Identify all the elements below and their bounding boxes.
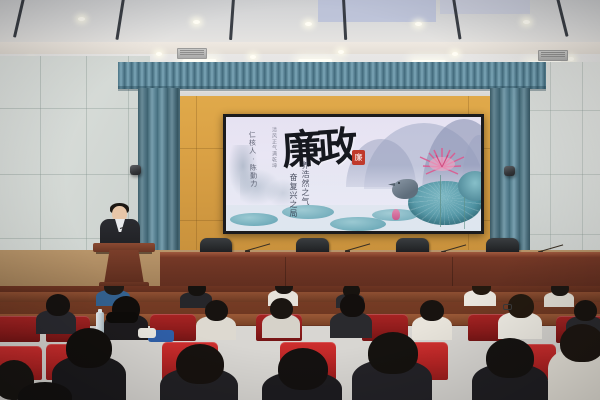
ceiling-blue-panel xyxy=(318,0,436,22)
screen-couplet-right: 养浩然之气 xyxy=(300,161,311,206)
wall-speaker-right xyxy=(504,166,515,176)
led-screen-content: 廉政 廉 养浩然之气 奋复兴之局 仁核人 · 陈勤力 清风正气满乾坤 xyxy=(226,117,481,231)
audience-head xyxy=(368,332,418,374)
audience-head xyxy=(270,298,293,319)
downlight-icon xyxy=(338,50,344,54)
audience-head xyxy=(66,328,112,368)
downlight-icon xyxy=(193,20,200,24)
audience-head xyxy=(486,338,534,378)
downlight-icon xyxy=(250,55,256,59)
air-vent-icon xyxy=(538,50,568,61)
wall-speaker-left xyxy=(130,165,141,175)
lotus-flower-svg xyxy=(414,145,470,179)
eyeglasses-icon xyxy=(503,304,512,310)
lotus-stem xyxy=(440,175,441,227)
audience-seat xyxy=(0,316,40,342)
downlight-icon xyxy=(415,22,422,26)
audience-head xyxy=(278,348,328,390)
audience-head xyxy=(420,300,444,321)
screen-headline: 廉政 xyxy=(281,127,356,172)
downlight-icon xyxy=(523,20,530,24)
audience-head xyxy=(205,300,228,321)
lectern-body xyxy=(104,250,144,284)
air-vent-icon xyxy=(177,48,207,59)
downlight-icon xyxy=(156,52,162,56)
audience-head xyxy=(574,300,597,321)
lotus-stem xyxy=(464,197,465,229)
bird-shape xyxy=(392,179,418,199)
curtain-valance xyxy=(118,62,546,89)
auditorium-photo: 廉政 廉 养浩然之气 奋复兴之局 仁核人 · 陈勤力 清风正气满乾坤 xyxy=(0,0,600,400)
bird-eye xyxy=(398,182,400,184)
white-cloth xyxy=(138,328,156,338)
screen-side-column: 仁核人 · 陈勤力 xyxy=(247,131,259,188)
audience-head xyxy=(560,324,600,362)
seal-text: 廉 xyxy=(355,152,363,163)
lotus-bud xyxy=(392,209,400,220)
head-table-edge xyxy=(160,252,600,257)
lotus-flower xyxy=(414,145,470,179)
audience-head xyxy=(176,344,224,384)
audience-area xyxy=(0,286,600,400)
screen-couplet-left: 奋复兴之局 xyxy=(288,173,299,218)
downlight-icon xyxy=(78,17,85,21)
curtain-left-shade xyxy=(138,88,180,254)
lotus-pad xyxy=(230,213,278,226)
audience-head xyxy=(46,294,70,316)
audience-head xyxy=(340,294,365,317)
screen-small-column: 清风正气满乾坤 xyxy=(270,127,277,169)
downlight-icon xyxy=(452,52,458,56)
seal-stamp: 廉 xyxy=(352,150,365,165)
downlight-icon xyxy=(568,57,574,61)
downlight-icon xyxy=(305,22,312,26)
hair-bow xyxy=(106,312,138,323)
led-screen-frame: 廉政 廉 养浩然之气 奋复兴之局 仁核人 · 陈勤力 清风正气满乾坤 xyxy=(223,114,484,234)
curtain-valance-shadow xyxy=(118,86,546,91)
